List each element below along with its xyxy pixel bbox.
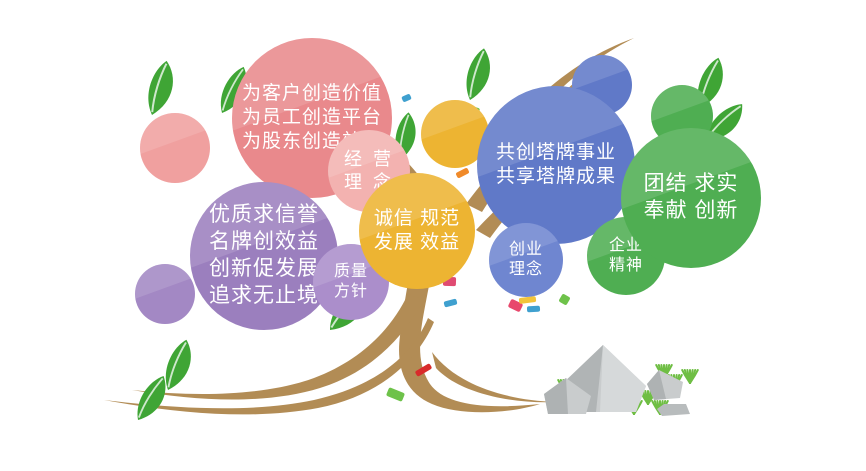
- circle-pink-accent-left: [140, 113, 210, 183]
- confetti-fleck: [527, 306, 540, 313]
- leaf-upper-left: [131, 61, 187, 116]
- bubble-policy-label: 质量 方针: [334, 262, 368, 303]
- leaf-blade: [131, 61, 187, 116]
- rock-cluster: [544, 345, 690, 416]
- bubble-startup[interactable]: 创业 理念: [489, 223, 563, 297]
- grass-tuft: [682, 370, 698, 383]
- confetti-fleck: [519, 296, 537, 304]
- confetti-fleck: [443, 298, 457, 307]
- leaf-blade: [450, 48, 504, 100]
- bubble-career-label: 共创塔牌事业 共享塔牌成果: [496, 141, 616, 190]
- leaf-yellow-top: [450, 48, 504, 100]
- bubble-spirit-label: 团结 求实 奉献 创新: [644, 171, 739, 225]
- confetti-fleck: [455, 167, 469, 178]
- confetti-fleck: [558, 293, 570, 305]
- circle-highlight: [135, 264, 195, 324]
- bubble-integrity[interactable]: 诚信 规范 发展 效益: [359, 173, 475, 289]
- confetti-fleck: [386, 387, 405, 402]
- tree-infographic-canvas: 为客户创造价值 为员工创造平台 为股东创造效益经 营 理 念优质求信誉 名牌创效…: [0, 0, 866, 471]
- bubble-startup-label: 创业 理念: [509, 240, 543, 281]
- circle-purple-accent-low: [135, 264, 195, 324]
- bubble-spirit[interactable]: 团结 求实 奉献 创新: [621, 128, 761, 268]
- confetti-fleck: [401, 93, 412, 102]
- bubble-integrity-label: 诚信 规范 发展 效益: [374, 207, 460, 256]
- bubble-quality-label: 优质求信誉 名牌创效益 创新促发展 追求无止境: [209, 202, 319, 310]
- circle-highlight: [140, 113, 210, 183]
- bubble-quality[interactable]: 优质求信誉 名牌创效益 创新促发展 追求无止境: [190, 182, 338, 330]
